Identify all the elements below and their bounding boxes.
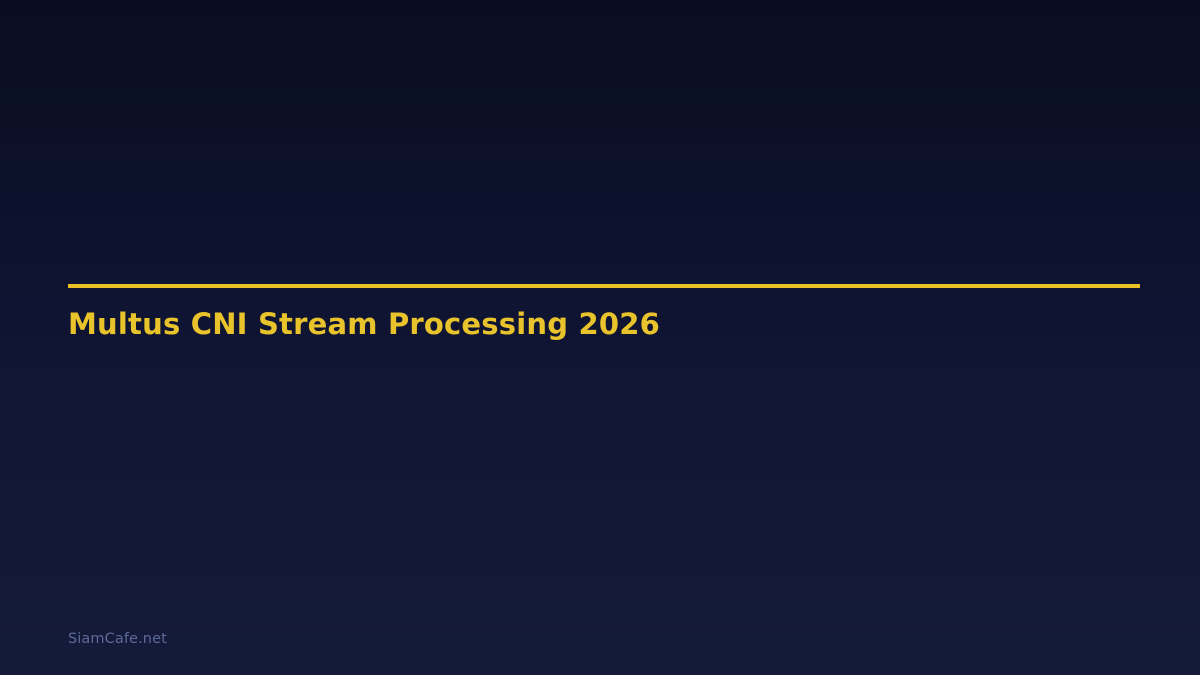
footer-watermark: SiamCafe.net (68, 630, 167, 649)
accent-rule (68, 284, 1140, 288)
title-block: Multus CNI Stream Processing 2026 (68, 284, 1140, 288)
title-slide: Multus CNI Stream Processing 2026 SiamCa… (0, 0, 1200, 675)
page-title: Multus CNI Stream Processing 2026 (68, 308, 660, 341)
